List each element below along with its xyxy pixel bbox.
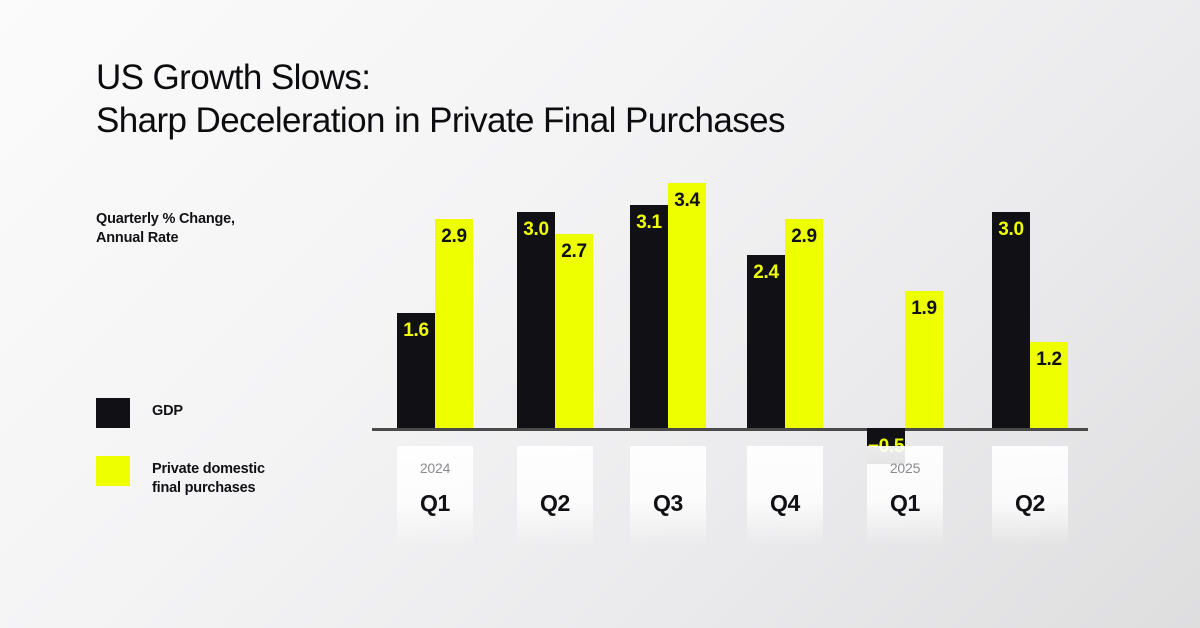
bar-value-label: 3.0 (998, 212, 1024, 247)
bar-gdp: 2.4 (747, 255, 785, 428)
category-label-q1-4: 2025Q1 (867, 446, 943, 546)
bar-value-label: 2.4 (753, 255, 779, 290)
category-year (630, 460, 706, 480)
category-year: 2024 (397, 460, 473, 480)
legend-swatch-pdfp (96, 456, 130, 486)
bar-pdfp: 2.9 (785, 219, 823, 428)
bar-value-label: 3.1 (636, 205, 662, 240)
category-label-q4-3: Q4 (747, 446, 823, 546)
category-year (747, 460, 823, 480)
bar-gdp: 3.0 (992, 212, 1030, 428)
bar-value-label: 1.9 (911, 291, 937, 326)
chart-legend: GDP Private domestic final purchases (96, 398, 265, 526)
bar-value-label: 1.6 (403, 313, 429, 348)
category-quarter: Q1 (867, 490, 943, 517)
bar-chart-plot: 1.62.93.02.73.13.42.42.9−0.51.93.01.2 20… (372, 150, 1088, 570)
bar-value-label: 2.7 (561, 234, 587, 269)
legend-label-gdp: GDP (152, 398, 183, 421)
legend-item-gdp: GDP (96, 398, 265, 428)
bar-value-label: 3.0 (523, 212, 549, 247)
bar-value-label: 2.9 (791, 219, 817, 254)
bar-gdp: 3.1 (630, 205, 668, 428)
zero-axis-line (372, 428, 1088, 431)
category-quarter: Q4 (747, 490, 823, 517)
bar-value-label: 2.9 (441, 219, 467, 254)
category-label-q2-1: Q2 (517, 446, 593, 546)
axis-caption: Quarterly % Change, Annual Rate (96, 210, 235, 248)
bar-pdfp: 2.9 (435, 219, 473, 428)
legend-label-pdfp: Private domestic final purchases (152, 456, 265, 498)
page-title: US Growth Slows: Sharp Deceleration in P… (96, 56, 785, 142)
category-year (992, 460, 1068, 480)
category-quarter: Q2 (517, 490, 593, 517)
category-label-q1-0: 2024Q1 (397, 446, 473, 546)
category-quarter: Q1 (397, 490, 473, 517)
bar-gdp: 1.6 (397, 313, 435, 428)
bar-pdfp: 2.7 (555, 234, 593, 428)
category-label-q3-2: Q3 (630, 446, 706, 546)
bar-value-label: 1.2 (1036, 342, 1062, 377)
infographic-canvas: US Growth Slows: Sharp Deceleration in P… (0, 0, 1200, 628)
legend-item-pdfp: Private domestic final purchases (96, 456, 265, 498)
legend-swatch-gdp (96, 398, 130, 428)
category-label-q2-5: Q2 (992, 446, 1068, 546)
category-quarter: Q2 (992, 490, 1068, 517)
bar-pdfp: 1.2 (1030, 342, 1068, 428)
bar-pdfp: 1.9 (905, 291, 943, 428)
category-year: 2025 (867, 460, 943, 480)
category-quarter: Q3 (630, 490, 706, 517)
bar-value-label: 3.4 (674, 183, 700, 218)
bar-pdfp: 3.4 (668, 183, 706, 428)
bar-gdp: 3.0 (517, 212, 555, 428)
category-year (517, 460, 593, 480)
